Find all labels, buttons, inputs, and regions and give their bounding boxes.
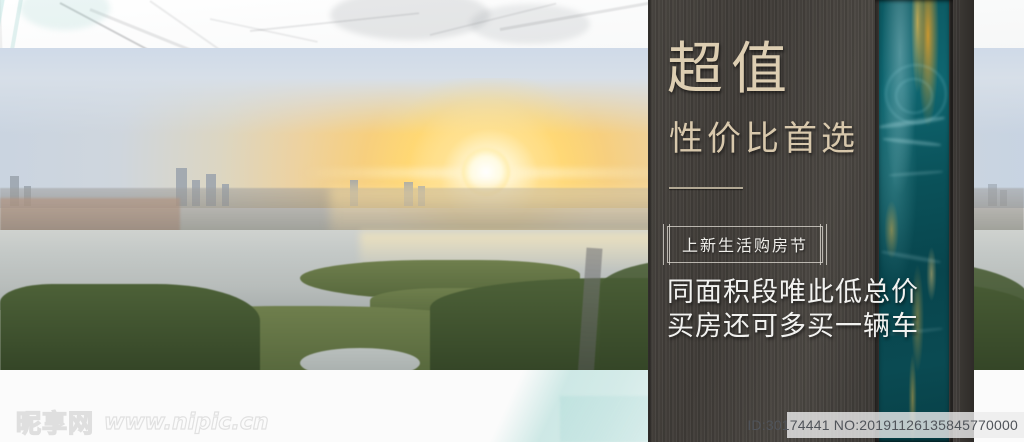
- marble-vein: [883, 137, 941, 147]
- panel-content: 超值 性价比首选 上新生活购房节 同面积段唯此低总价 买房还可多买一辆车: [667, 0, 877, 442]
- teal-marble-inset: [879, 0, 949, 442]
- tree-line: [0, 284, 260, 373]
- marble-vein: [889, 170, 943, 177]
- ink-wash-blob: [20, 0, 110, 30]
- watermark: 昵享网 www.nipic.cn: [16, 404, 269, 440]
- badge-left-cap: [663, 224, 670, 265]
- promo-banner: 超值 性价比首选 上新生活购房节 同面积段唯此低总价 买房还可多买一辆车 ID:…: [0, 0, 1024, 442]
- marble-swirl: [895, 78, 933, 114]
- marble-vein: [881, 250, 941, 264]
- divider-rule: [669, 187, 743, 189]
- wood-panel-right-edge: [960, 0, 974, 442]
- page-title: 超值: [667, 42, 795, 98]
- badge-right-cap: [820, 224, 827, 265]
- stock-id-bar: ID:30174441 NO:20191126135845770000: [787, 412, 1024, 438]
- status-badge: 上新生活购房节: [667, 226, 823, 263]
- body-line-2: 买房还可多买一辆车: [667, 304, 919, 343]
- page-subtitle: 性价比首选: [669, 122, 859, 156]
- ink-wash-blob: [330, 0, 490, 40]
- watermark-url: www.nipic.cn: [104, 410, 269, 435]
- stock-id-text: ID:30174441 NO:20191126135845770000: [747, 417, 1018, 433]
- badge-label: 上新生活购房节: [682, 236, 808, 255]
- wood-panel-left-shadow: [648, 0, 653, 442]
- watermark-logo: 昵享网: [16, 404, 94, 440]
- ink-stroke: [149, 0, 224, 53]
